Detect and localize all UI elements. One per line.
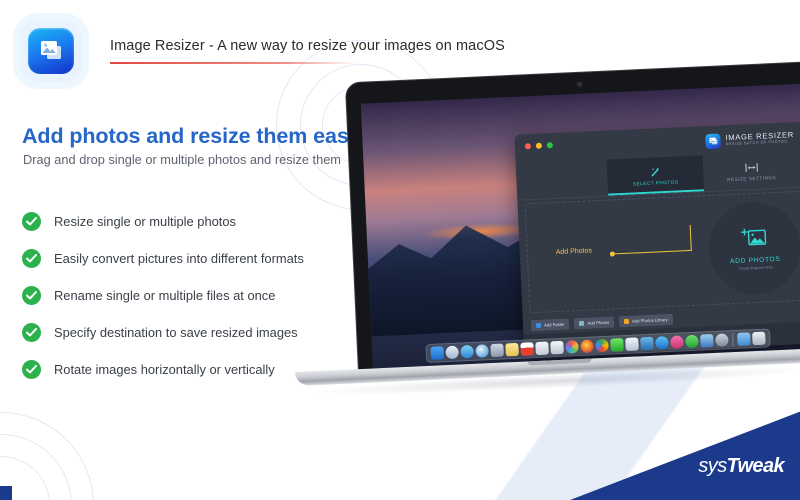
- pages-icon[interactable]: [550, 341, 564, 355]
- resize-arrows-icon: [744, 161, 758, 174]
- calendar-icon[interactable]: [520, 342, 534, 356]
- dock-divider: [732, 333, 734, 346]
- safari-icon[interactable]: [475, 344, 489, 358]
- folder-icon: [536, 322, 541, 327]
- check-circle-icon: [22, 286, 41, 305]
- check-circle-icon: [22, 249, 41, 268]
- add-photos-toolbar-button[interactable]: Add Photos: [574, 316, 614, 329]
- feature-label: Resize single or multiple photos: [54, 214, 236, 229]
- tab-resize-settings[interactable]: RESIZE SETTINGS: [703, 151, 800, 191]
- callout-line: [614, 250, 692, 255]
- minimize-icon[interactable]: [536, 143, 542, 149]
- maximize-icon[interactable]: [547, 142, 553, 148]
- add-photos-label: Add Photos: [587, 319, 609, 325]
- page-title: Image Resizer - A new way to resize your…: [110, 38, 505, 54]
- app-brand-icon: [705, 133, 721, 149]
- downloads-folder-icon[interactable]: [737, 332, 751, 346]
- feature-label: Rotate images horizontally or vertically: [54, 362, 275, 377]
- preview-icon[interactable]: [700, 334, 714, 348]
- facetime-icon[interactable]: [685, 335, 699, 349]
- magic-wand-icon: [649, 165, 661, 177]
- feature-label: Easily convert pictures into different f…: [54, 251, 304, 266]
- photo-dropzone-area[interactable]: Add Photos: [524, 183, 800, 314]
- keynote-icon[interactable]: [640, 337, 654, 351]
- add-photos-library-button[interactable]: Add Photos Library: [619, 313, 673, 326]
- app-brand-text: IMAGE RESIZER RESIZE BATCH OF PHOTOS: [725, 132, 794, 147]
- feature-label: Specify destination to save resized imag…: [54, 325, 298, 340]
- image-resizer-app-icon: [28, 28, 74, 74]
- add-folder-label: Add Folder: [544, 321, 565, 327]
- macos-desktop: IMAGE RESIZER RESIZE BATCH OF PHOTOS SEL…: [361, 83, 800, 370]
- chrome-icon[interactable]: [595, 339, 609, 353]
- add-photo-icon: [741, 226, 768, 254]
- macbook-mockup: IMAGE RESIZER RESIZE BATCH OF PHOTOS SEL…: [282, 62, 800, 396]
- mail-icon[interactable]: [460, 345, 474, 359]
- systweak-logo: sysTweak: [698, 455, 784, 478]
- add-photos-library-label: Add Photos Library: [632, 317, 668, 324]
- decor-corner-square: [0, 486, 12, 500]
- check-circle-icon: [22, 323, 41, 342]
- firefox-icon[interactable]: [580, 339, 594, 353]
- tab-label: SELECT PHOTOS: [633, 179, 679, 186]
- title-underline: [110, 62, 358, 64]
- numbers-icon[interactable]: [625, 337, 639, 351]
- macbook-lid: IMAGE RESIZER RESIZE BATCH OF PHOTOS SEL…: [346, 62, 800, 371]
- finder-icon[interactable]: [430, 346, 444, 360]
- tab-label: RESIZE SETTINGS: [727, 175, 776, 182]
- callout-label: Add Photos: [556, 247, 592, 256]
- feature-label: Rename single or multiple files at once: [54, 288, 275, 303]
- reminders-icon[interactable]: [535, 341, 549, 355]
- messages-icon[interactable]: [610, 338, 624, 352]
- logo-prefix: sys: [698, 455, 726, 477]
- window-traffic-lights: [525, 142, 553, 149]
- app-brand: IMAGE RESIZER RESIZE BATCH OF PHOTOS: [705, 130, 794, 149]
- webcam-icon: [577, 82, 582, 87]
- settings-icon[interactable]: [715, 333, 729, 347]
- toolbar-spacer: [678, 308, 800, 318]
- dropzone-title: ADD PHOTOS: [730, 255, 781, 264]
- image-resizer-window: IMAGE RESIZER RESIZE BATCH OF PHOTOS SEL…: [514, 114, 800, 357]
- systweak-banner: sysTweak: [570, 406, 800, 500]
- tab-select-photos[interactable]: SELECT PHOTOS: [607, 155, 705, 195]
- photo-icon: [579, 320, 584, 325]
- contacts-icon[interactable]: [490, 344, 504, 358]
- check-circle-icon: [22, 212, 41, 231]
- dropzone-subtitle: Simply drag and drop: [738, 265, 772, 271]
- notes-icon[interactable]: [505, 343, 519, 357]
- logo-suffix: Tweak: [727, 455, 784, 477]
- library-icon: [624, 318, 629, 323]
- decor-ring-bottom-large: [0, 412, 94, 500]
- close-icon[interactable]: [525, 143, 531, 149]
- add-folder-button[interactable]: Add Folder: [531, 318, 570, 331]
- banner-shape: [570, 406, 800, 500]
- itunes-icon[interactable]: [670, 335, 684, 349]
- photos-icon[interactable]: [565, 340, 579, 354]
- callout-elbow: [690, 225, 693, 251]
- launchpad-icon[interactable]: [445, 346, 459, 360]
- check-circle-icon: [22, 360, 41, 379]
- trash-icon[interactable]: [752, 332, 766, 346]
- promo-banner: Image Resizer - A new way to resize your…: [0, 0, 800, 500]
- app-icon-badge: [20, 20, 82, 82]
- appstore-icon[interactable]: [655, 336, 669, 350]
- add-photos-button[interactable]: ADD PHOTOS Simply drag and drop: [707, 200, 800, 296]
